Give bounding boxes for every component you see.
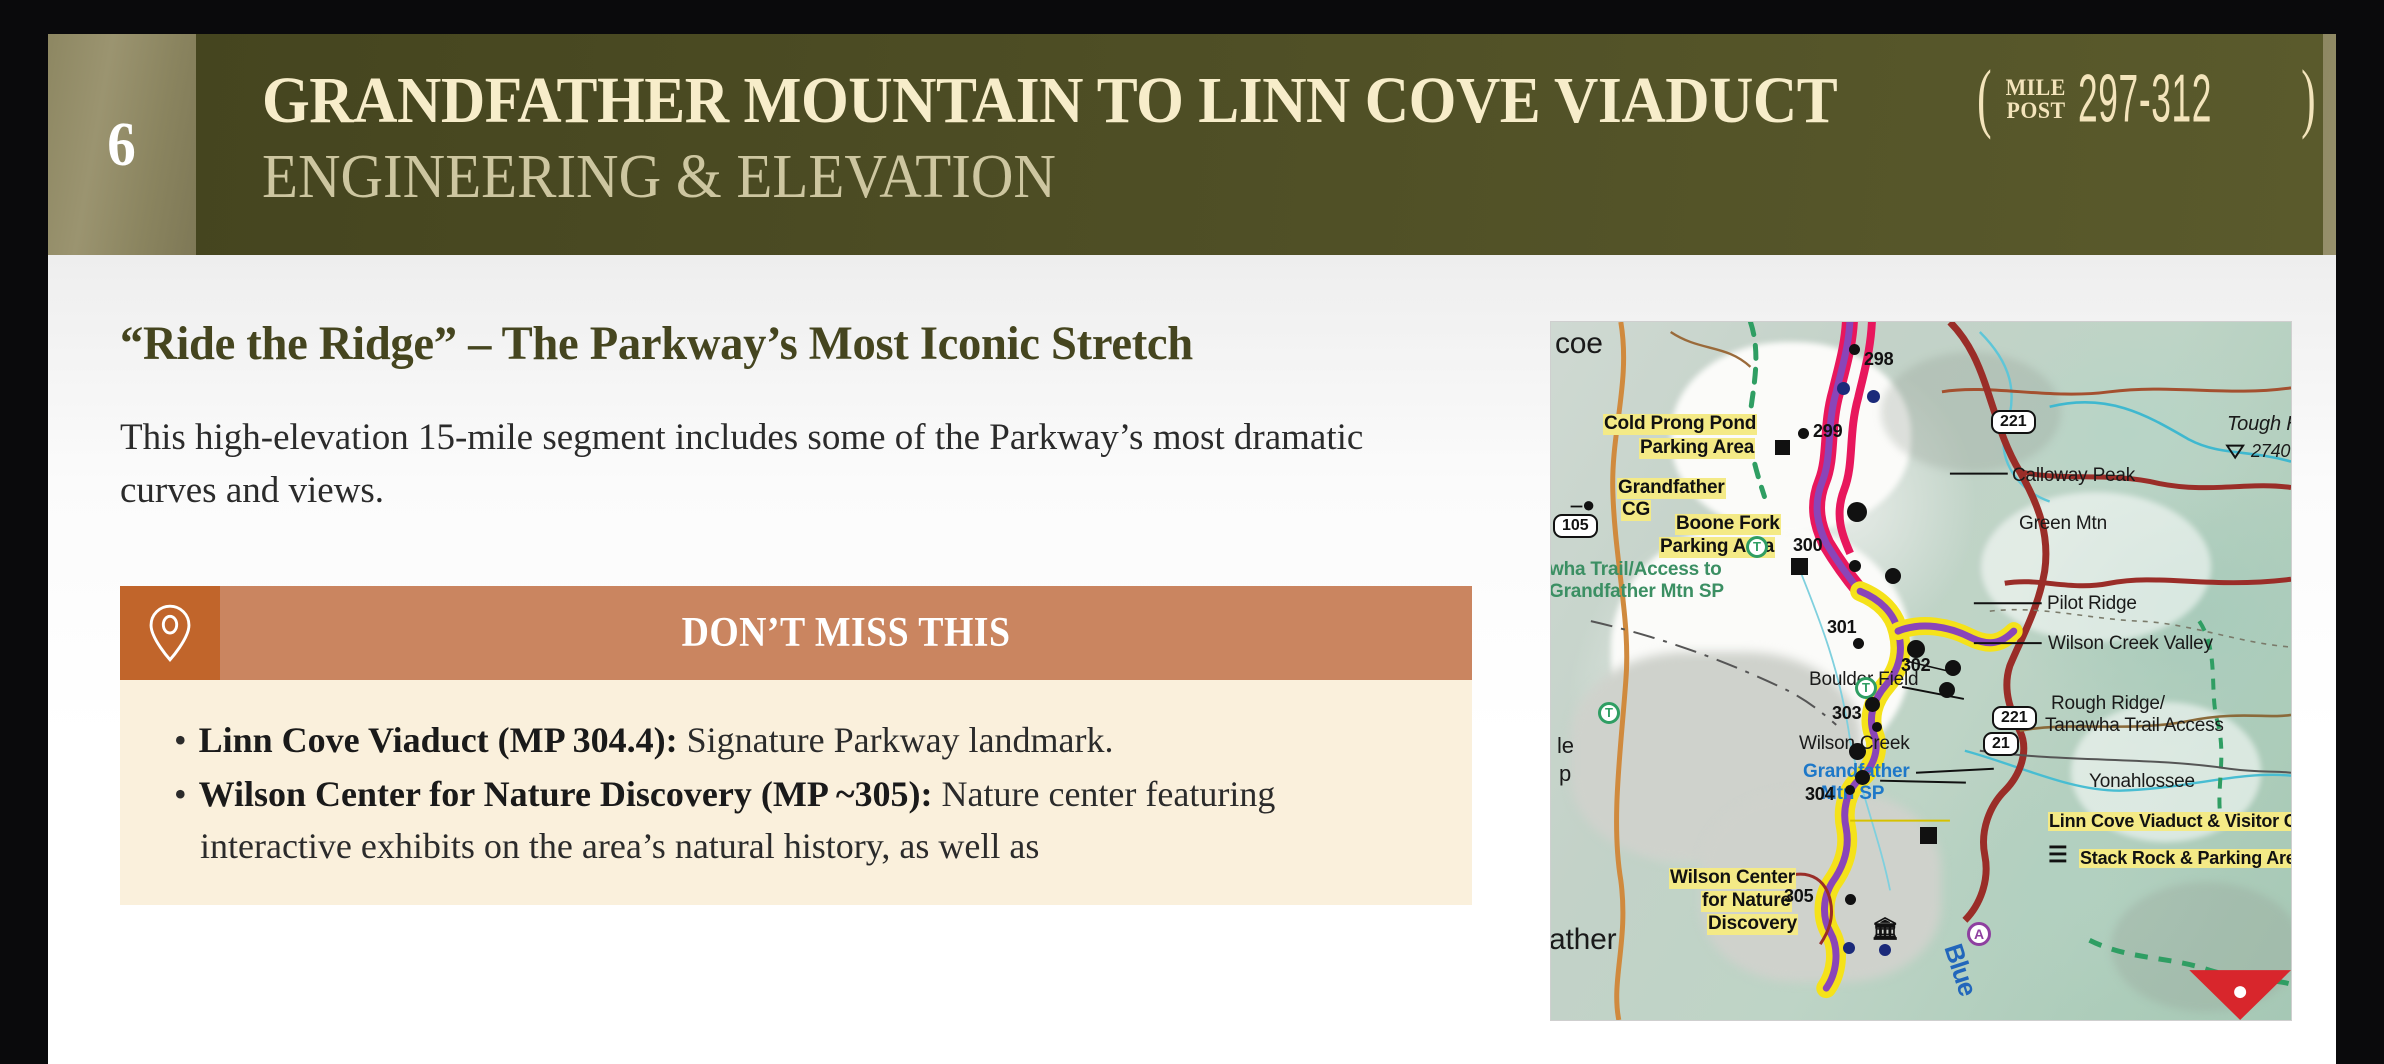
- page-header: 6 GRANDFATHER MOUNTAIN TO LINN COVE VIAD…: [48, 34, 2336, 255]
- bullet-glyph: •: [174, 774, 187, 814]
- content-column: “Ride the Ridge” – The Parkway’s Most Ic…: [48, 255, 1550, 1064]
- route-map[interactable]: coe Cold Prong Pond Parking Area Grandfa…: [1550, 321, 2292, 1021]
- milepost-label: MILE POST: [2004, 76, 2067, 122]
- list-item: •Linn Cove Viaduct (MP 304.4): Signature…: [174, 714, 1424, 766]
- map-pin-icon-cell: [120, 586, 220, 680]
- map-column: coe Cold Prong Pond Parking Area Grandfa…: [1550, 255, 2336, 1064]
- list-item-bold: Linn Cove Viaduct (MP 304.4):: [199, 720, 678, 760]
- dont-miss-title: DON’T MISS THIS: [283, 586, 1410, 680]
- edition-badge-panel: E10: [2323, 34, 2336, 255]
- paren-close: ): [2301, 68, 2315, 130]
- section-heading: “Ride the Ridge” – The Parkway’s Most Ic…: [120, 317, 1449, 371]
- map-symbols: [1551, 322, 2291, 1020]
- dont-miss-list: •Linn Cove Viaduct (MP 304.4): Signature…: [120, 680, 1472, 905]
- intro-paragraph: This high-elevation 15-mile segment incl…: [120, 411, 1450, 518]
- guide-page: 6 GRANDFATHER MOUNTAIN TO LINN COVE VIAD…: [48, 34, 2336, 1064]
- dont-miss-header: DON’T MISS THIS: [120, 586, 1472, 680]
- page-title: GRANDFATHER MOUNTAIN TO LINN COVE VIADUC…: [262, 68, 1837, 134]
- page-subtitle: ENGINEERING & ELEVATION: [262, 146, 2220, 208]
- map-pin-icon: [147, 604, 193, 662]
- list-item-rest: Signature Parkway landmark.: [678, 720, 1114, 760]
- page-body: “Ride the Ridge” – The Parkway’s Most Ic…: [48, 255, 2336, 1064]
- milepost-label-line1: MILE: [2006, 76, 2066, 99]
- section-number-panel: 6: [48, 34, 196, 255]
- milepost-range: 297-312: [2078, 60, 2212, 138]
- dont-miss-box: DON’T MISS THIS •Linn Cove Viaduct (MP 3…: [120, 586, 1472, 905]
- list-item-bold: Wilson Center for Nature Discovery (MP ~…: [199, 774, 933, 814]
- header-title-row: GRANDFATHER MOUNTAIN TO LINN COVE VIADUC…: [262, 68, 2323, 136]
- milepost-label-line2: POST: [2007, 99, 2066, 122]
- bullet-glyph: •: [174, 720, 187, 760]
- header-title-block: GRANDFATHER MOUNTAIN TO LINN COVE VIADUC…: [196, 34, 2323, 255]
- list-item: •Wilson Center for Nature Discovery (MP …: [174, 768, 1424, 872]
- paren-open: (: [1977, 68, 1991, 130]
- section-number: 6: [108, 114, 137, 176]
- milepost-group: ( MILE POST 297-312 ): [1970, 66, 2323, 132]
